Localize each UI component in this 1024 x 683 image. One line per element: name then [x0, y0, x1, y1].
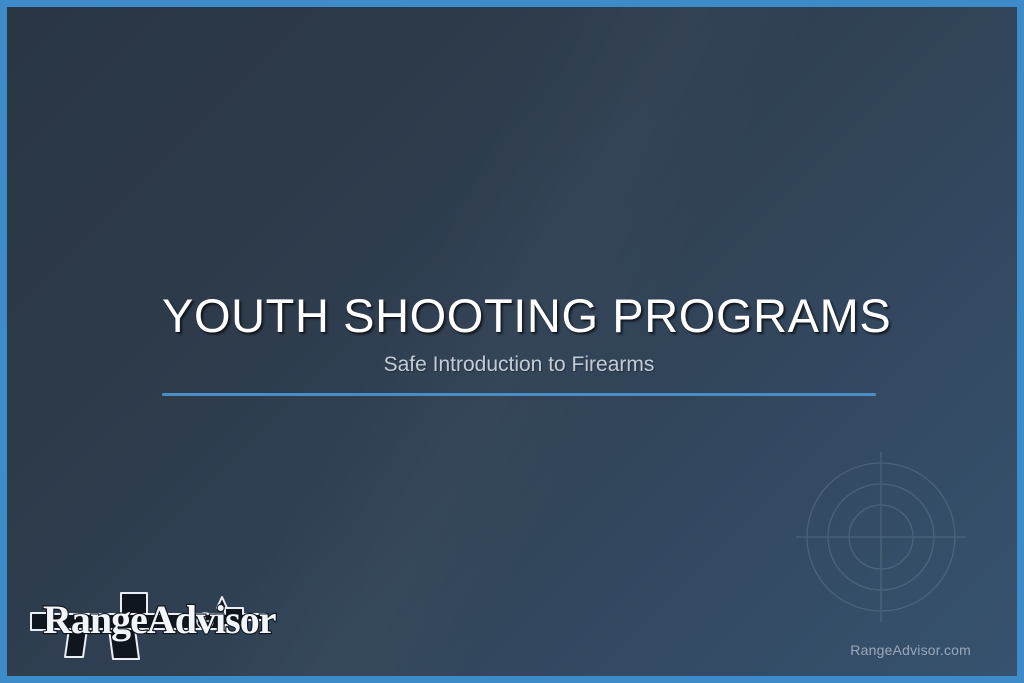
footer-url: RangeAdvisor.com — [850, 642, 971, 658]
brand-logo: RangeAdvisor RangeAdvisor — [29, 567, 279, 672]
accent-divider — [162, 393, 876, 396]
title-slide: YOUTH SHOOTING PROGRAMS Safe Introductio… — [0, 0, 1024, 683]
svg-text:RangeAdvisor: RangeAdvisor — [43, 597, 276, 642]
title-block: YOUTH SHOOTING PROGRAMS Safe Introductio… — [162, 291, 876, 396]
page-title: YOUTH SHOOTING PROGRAMS — [162, 291, 876, 341]
page-subtitle: Safe Introduction to Firearms — [162, 352, 876, 377]
